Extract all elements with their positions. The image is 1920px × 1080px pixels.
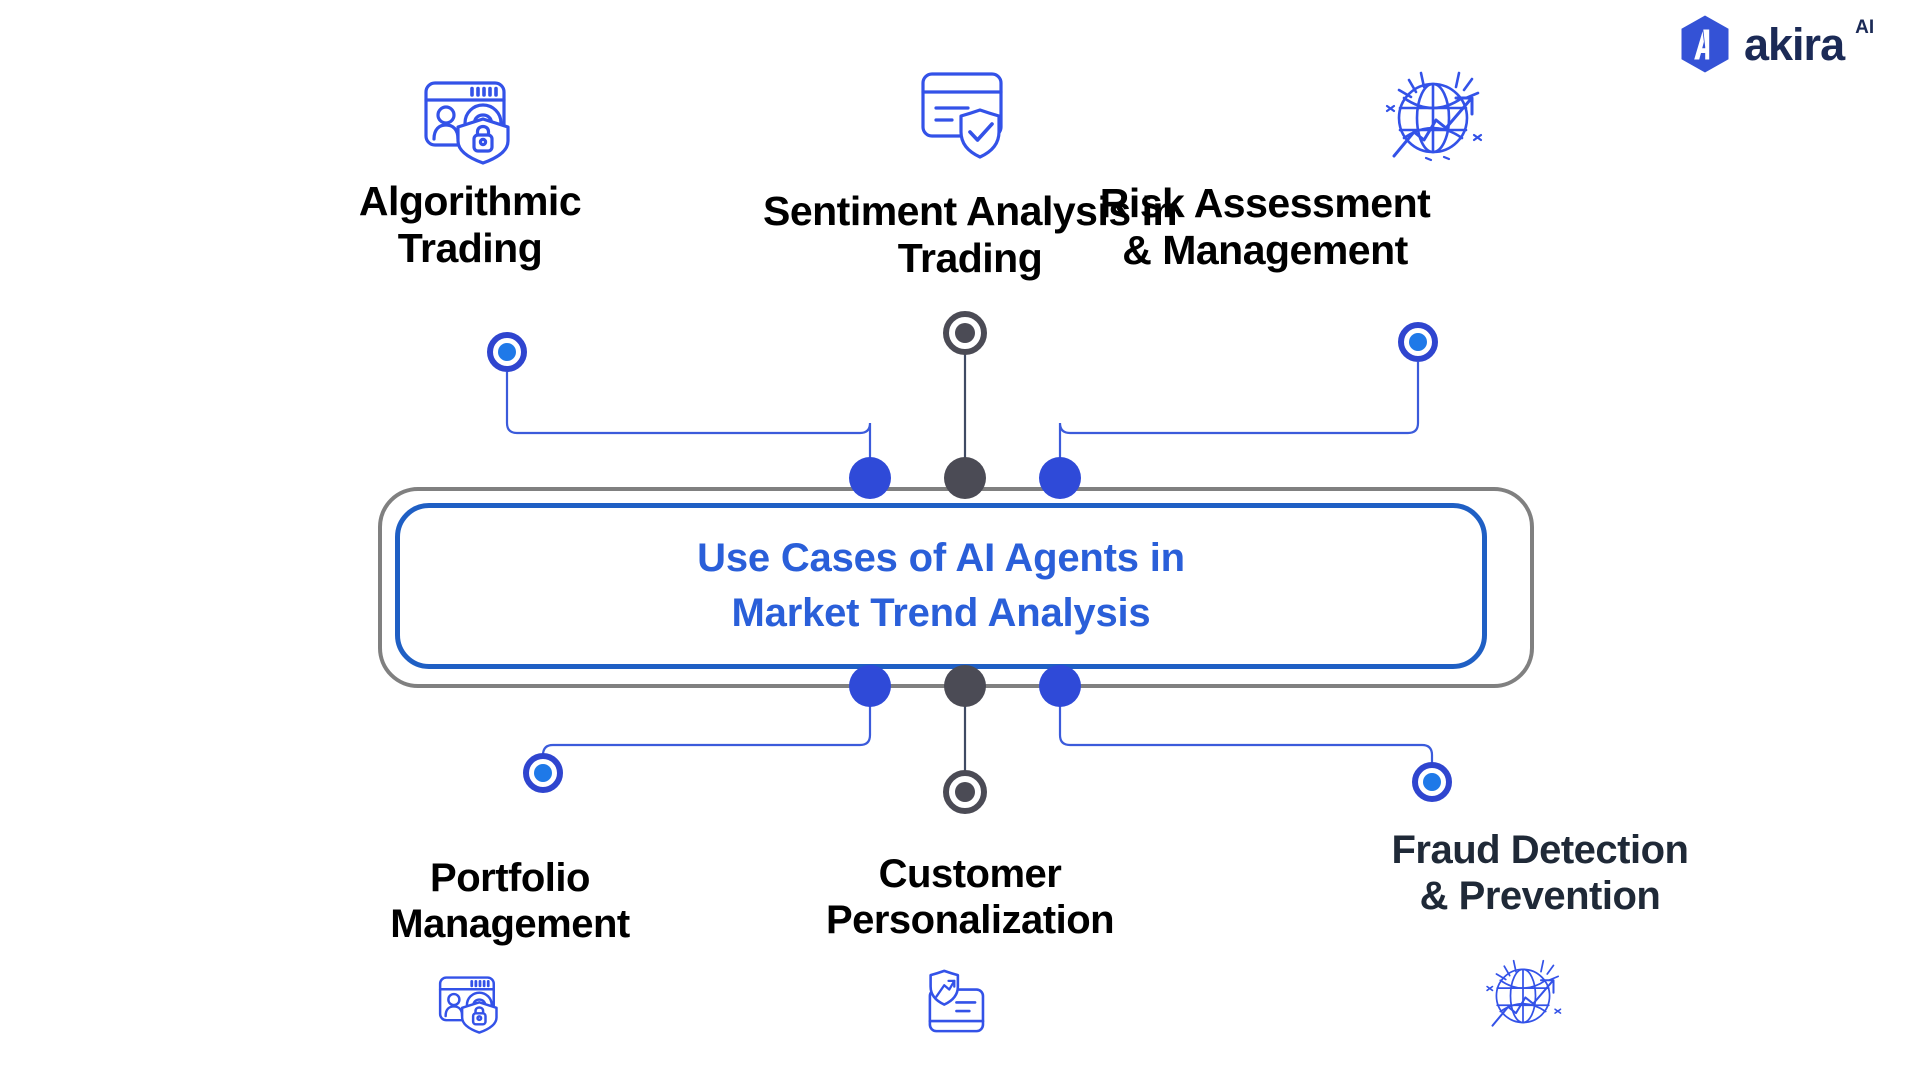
ring-marker-algorithmic-trading[interactable] bbox=[487, 332, 527, 372]
ring-marker-customer-personalization[interactable] bbox=[943, 770, 987, 814]
wire-risk-assessment bbox=[1060, 362, 1418, 478]
node-label-portfolio-management: Portfolio Management bbox=[320, 856, 700, 947]
node-label-risk-assessment: Risk Assessment & Management bbox=[1015, 180, 1515, 273]
wire-fraud-detection bbox=[1060, 686, 1432, 782]
node-label-fraud-detection: Fraud Detection & Prevention bbox=[1330, 828, 1750, 919]
hub-dot-sentiment-analysis[interactable] bbox=[944, 457, 986, 499]
hub-dot-algorithmic-trading[interactable] bbox=[849, 457, 891, 499]
page-title: Use Cases of AI Agents in Market Trend A… bbox=[697, 531, 1185, 641]
infographic-canvas: akira AI Use Cases of AI Agents in Marke… bbox=[0, 0, 1920, 1080]
ring-core bbox=[498, 343, 516, 361]
hub-dot-fraud-detection[interactable] bbox=[1039, 665, 1081, 707]
node-label-customer-personalization: Customer Personalization bbox=[790, 852, 1150, 943]
ring-core bbox=[534, 764, 552, 782]
card-lines-shield-check-icon bbox=[918, 68, 1014, 160]
hub-dot-risk-assessment[interactable] bbox=[1039, 457, 1081, 499]
id-card-user-shield-lock-icon bbox=[436, 972, 502, 1034]
ring-core bbox=[1409, 333, 1427, 351]
globe-growth-arrow-icon bbox=[1378, 62, 1488, 164]
ring-marker-portfolio-management[interactable] bbox=[523, 753, 563, 793]
node-label-algorithmic-trading: Algorithmic Trading bbox=[290, 178, 650, 271]
ring-marker-risk-assessment[interactable] bbox=[1398, 322, 1438, 362]
hub-dot-portfolio-management[interactable] bbox=[849, 665, 891, 707]
wire-portfolio-management bbox=[543, 686, 870, 773]
id-card-user-shield-lock-icon bbox=[420, 75, 516, 165]
card-lines-magnifier-icon bbox=[920, 968, 990, 1034]
ring-core bbox=[955, 782, 975, 802]
wire-algorithmic-trading bbox=[507, 372, 870, 478]
ring-marker-sentiment-analysis[interactable] bbox=[943, 311, 987, 355]
center-hub: Use Cases of AI Agents in Market Trend A… bbox=[395, 503, 1487, 669]
hub-dot-customer-personalization[interactable] bbox=[944, 665, 986, 707]
ring-core bbox=[1423, 773, 1441, 791]
ring-core bbox=[955, 323, 975, 343]
globe-growth-arrow-icon bbox=[1480, 952, 1566, 1032]
ring-marker-fraud-detection[interactable] bbox=[1412, 762, 1452, 802]
